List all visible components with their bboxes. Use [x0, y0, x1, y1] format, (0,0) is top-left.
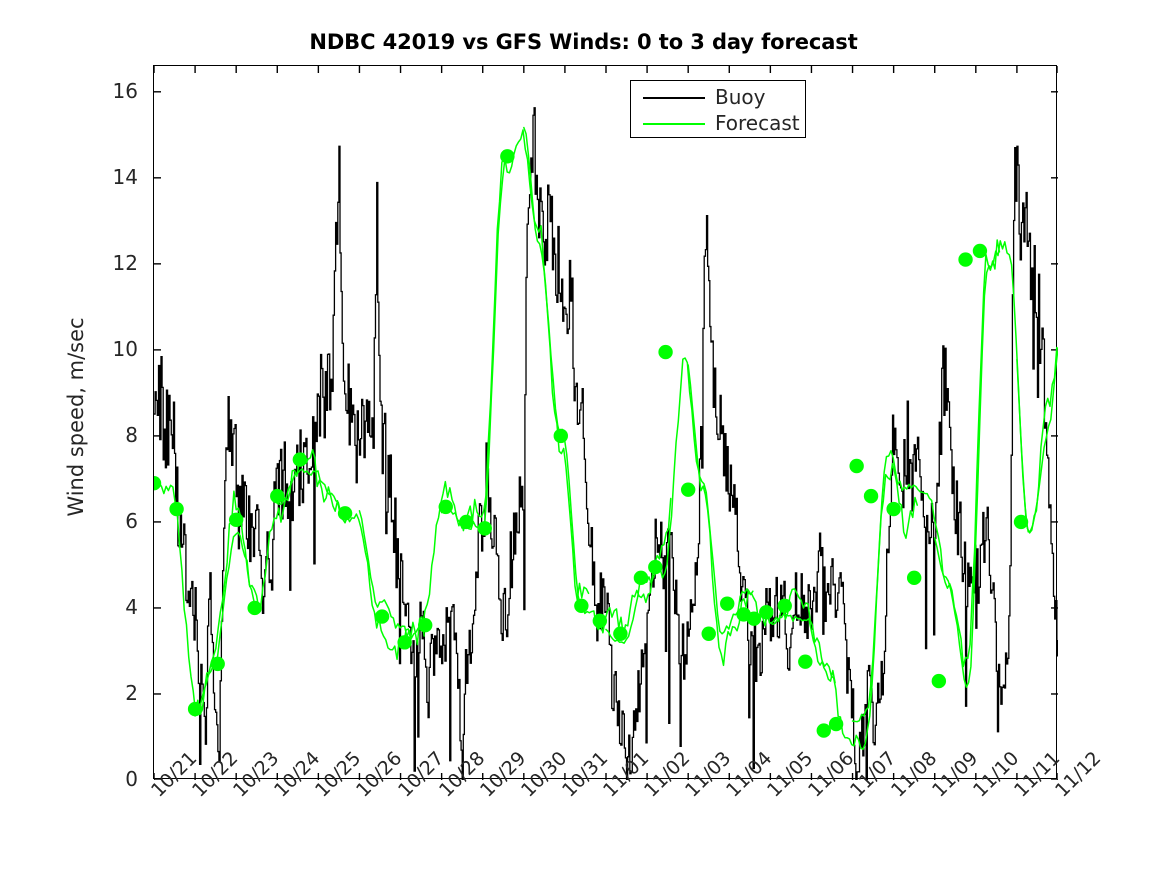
legend-swatch-buoy [643, 97, 705, 99]
forecast-marker-38 [958, 252, 972, 266]
forecast-marker-33 [849, 459, 863, 473]
forecast-marker-13 [459, 515, 473, 529]
forecast-marker-14 [478, 521, 492, 535]
forecast-marker-7 [293, 452, 307, 466]
plot-area [153, 65, 1057, 779]
forecast-marker-27 [747, 612, 761, 626]
forecast-marker-29 [778, 599, 792, 613]
x-tick-label: 11/12 [1051, 747, 1105, 801]
forecast-marker-28 [759, 605, 773, 619]
legend: BuoyForecast [630, 80, 806, 138]
forecast-marker-30 [798, 655, 812, 669]
axis-ticks [154, 66, 1058, 780]
legend-entry: Buoy [631, 85, 807, 111]
chart-title: NDBC 42019 vs GFS Winds: 0 to 3 day fore… [0, 30, 1167, 54]
legend-label: Forecast [715, 110, 800, 136]
y-axis-label-wrapper: Wind speed, m/sec [66, 65, 90, 779]
legend-swatch-forecast [643, 123, 705, 125]
forecast-marker-34 [864, 489, 878, 503]
chart-figure: NDBC 42019 vs GFS Winds: 0 to 3 day fore… [0, 0, 1167, 875]
forecast-marker-12 [439, 500, 453, 514]
forecast-marker-23 [681, 482, 695, 496]
forecast-marker-35 [886, 502, 900, 516]
forecast-marker-10 [397, 635, 411, 649]
forecast-marker-22 [658, 345, 672, 359]
forecast-marker-2 [188, 702, 202, 716]
forecast-marker-4 [229, 513, 243, 527]
forecast-marker-24 [702, 627, 716, 641]
y-tick-label: 2 [96, 683, 138, 703]
forecast-marker-5 [247, 601, 261, 615]
forecast-marker-3 [210, 657, 224, 671]
forecast-marker-1 [169, 502, 183, 516]
y-tick-label: 10 [96, 339, 138, 359]
forecast-marker-17 [574, 599, 588, 613]
y-tick-label: 6 [96, 511, 138, 531]
forecast-marker-21 [648, 560, 662, 574]
forecast-marker-0 [154, 476, 161, 490]
buoy-series [154, 108, 1058, 780]
forecast-marker-11 [418, 618, 432, 632]
buoy-line [154, 108, 1058, 780]
forecast-marker-40 [1014, 515, 1028, 529]
forecast-marker-36 [907, 571, 921, 585]
forecast-marker-39 [973, 244, 987, 258]
forecast-marker-8 [338, 506, 352, 520]
forecast-series [154, 128, 1058, 750]
forecast-marker-32 [829, 717, 843, 731]
forecast-marker-18 [593, 614, 607, 628]
y-axis-label: Wind speed, m/sec [64, 202, 88, 632]
legend-entry: Forecast [631, 111, 807, 137]
forecast-marker-31 [817, 723, 831, 737]
y-tick-label: 4 [96, 597, 138, 617]
x-axis-tick-labels: 10/2110/2210/2310/2410/2510/2610/2710/28… [153, 786, 1057, 876]
y-tick-label: 12 [96, 253, 138, 273]
y-tick-label: 16 [96, 81, 138, 101]
forecast-marker-15 [500, 149, 514, 163]
forecast-line [359, 155, 506, 638]
y-tick-label: 0 [96, 769, 138, 789]
forecast-marker-16 [554, 429, 568, 443]
forecast-marker-37 [932, 674, 946, 688]
y-tick-label: 8 [96, 425, 138, 445]
legend-label: Buoy [715, 84, 765, 110]
forecast-marker-20 [634, 571, 648, 585]
forecast-marker-9 [375, 609, 389, 623]
forecast-marker-25 [720, 596, 734, 610]
forecast-marker-19 [613, 627, 627, 641]
y-tick-label: 14 [96, 167, 138, 187]
forecast-marker-6 [270, 489, 284, 503]
forecast-line [524, 128, 671, 636]
plot-canvas [154, 66, 1058, 780]
forecast-line [195, 450, 342, 716]
